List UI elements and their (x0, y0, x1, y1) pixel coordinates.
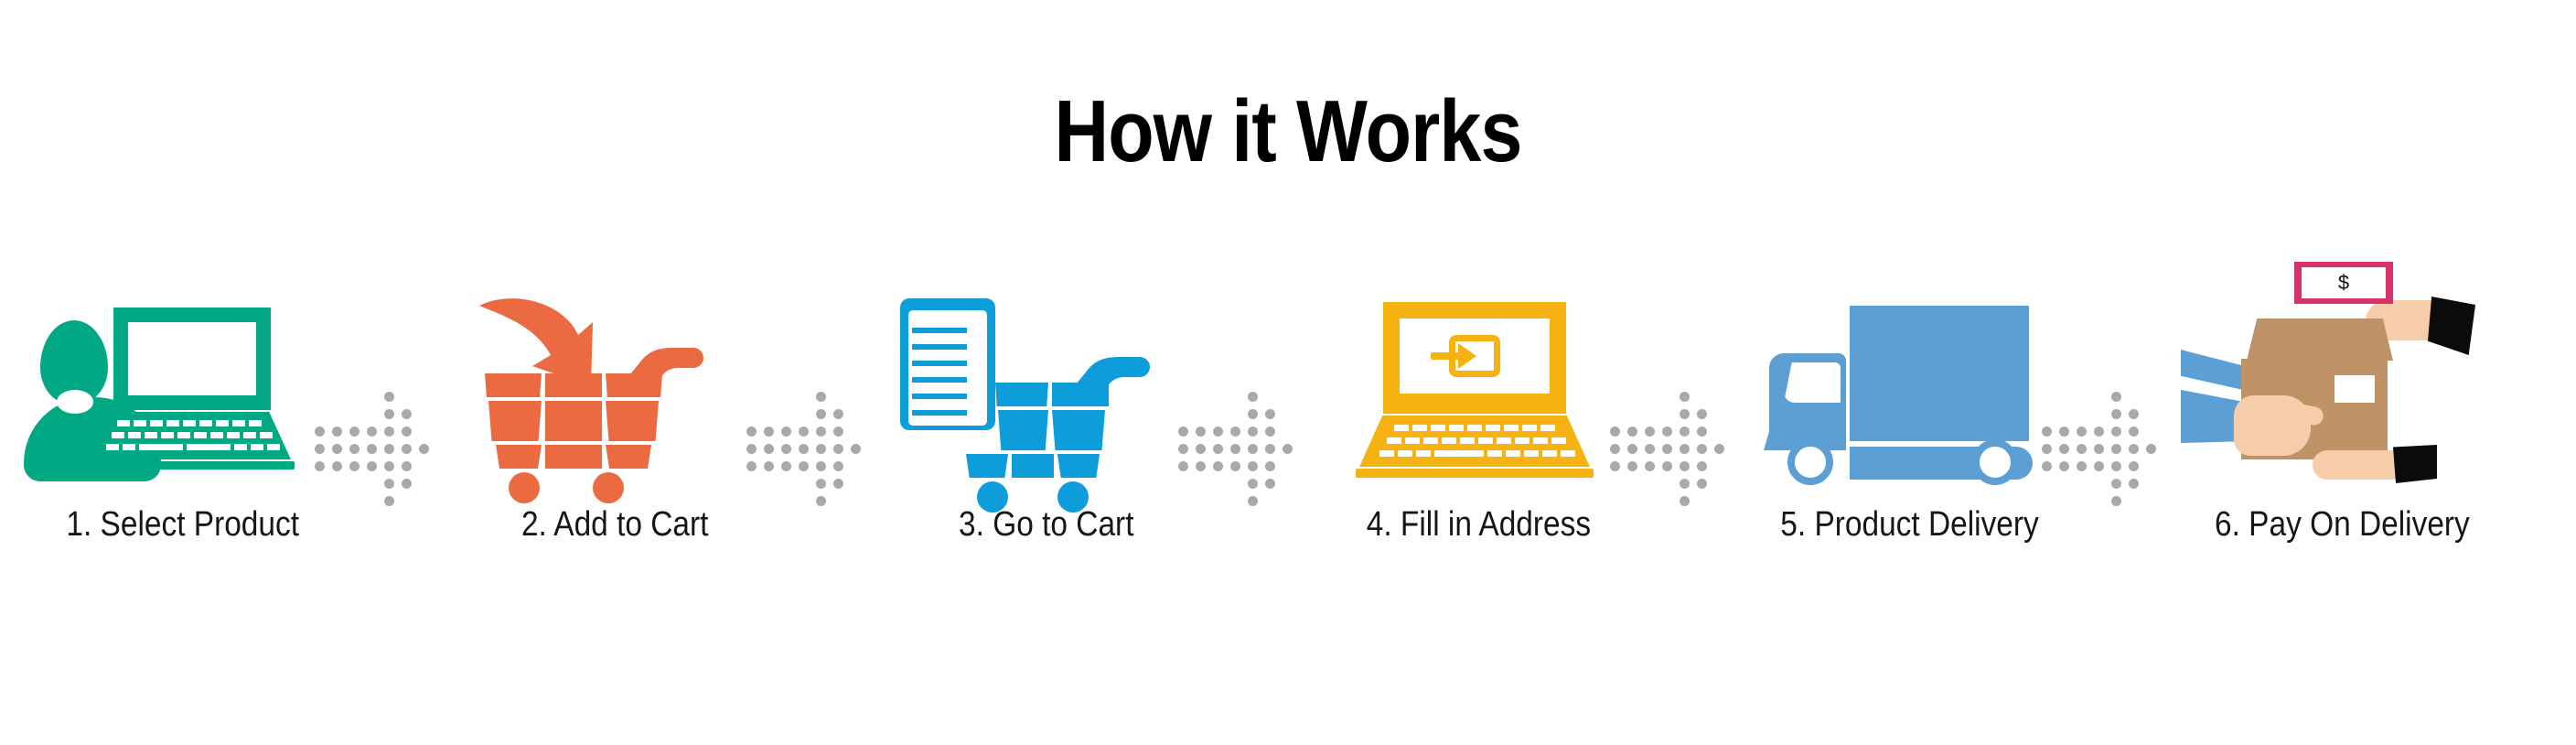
arrow-dot (816, 444, 826, 454)
arrow-dot (1645, 461, 1655, 471)
truck-wheel-front-shape (1787, 439, 1833, 485)
arrow-dot (799, 444, 809, 454)
arrow-dot (1680, 426, 1690, 437)
document-text-line (912, 410, 967, 416)
step-label: 1. Select Product (67, 505, 300, 545)
arrow-dot (1610, 426, 1620, 437)
arrow-dot (384, 409, 394, 419)
arrow-dot (2059, 461, 2069, 471)
arrow-dot (746, 444, 757, 454)
arrow-dot (402, 444, 412, 454)
arrow-dot (384, 496, 394, 506)
arrow-dot (2059, 426, 2069, 437)
arrow-dot (315, 444, 325, 454)
step-fill-in-address[interactable]: 4. Fill in Address (1295, 302, 1661, 545)
arrow-dot (1178, 426, 1188, 437)
arrow-dot (764, 426, 774, 437)
arrow-dot (2077, 426, 2087, 437)
arrow-dot (1680, 461, 1690, 471)
arrow-dot (1697, 426, 1707, 437)
arrow-dot (1213, 426, 1223, 437)
arrow-dot (1610, 461, 1620, 471)
arrow-dot (816, 426, 826, 437)
arrow-dot (367, 461, 377, 471)
document-text-line (912, 361, 967, 366)
arrow-dot (1248, 392, 1258, 402)
arrow-dot (816, 461, 826, 471)
step-label: 4. Fill in Address (1366, 505, 1590, 545)
arrow-dot (2129, 479, 2139, 489)
arrow-dot (367, 444, 377, 454)
arrow-dot (332, 444, 342, 454)
arrow-dot (1265, 409, 1275, 419)
arrow-dot (1697, 479, 1707, 489)
arrow-dot (367, 426, 377, 437)
arrow-dot (2111, 461, 2121, 471)
steps-row: 1. Select Product (0, 302, 2576, 668)
arrow-dot (764, 461, 774, 471)
step-product-delivery[interactable]: 5. Product Delivery (1727, 302, 2093, 545)
arrow-dot (2059, 444, 2069, 454)
truck-window-shape (1784, 362, 1841, 403)
delivery-truck-icon (1764, 302, 2056, 485)
arrow-dot (2129, 444, 2139, 454)
laptop-keys-group (93, 412, 291, 459)
arrow-dot (1230, 426, 1240, 437)
arrow-dot (1178, 461, 1188, 471)
arrow-dot (2111, 496, 2121, 506)
arrow-dot (781, 444, 791, 454)
parcel-box-lid-shape (2247, 319, 2393, 361)
arrow-dot (746, 426, 757, 437)
arrow-dot (816, 392, 826, 402)
arrow-dot (1680, 392, 1690, 402)
arrow-dot (349, 461, 360, 471)
dotted-arrow-right-icon (798, 342, 864, 525)
arrow-dot (1248, 426, 1258, 437)
laptop-base-bar-shape (90, 461, 295, 470)
step-select-product[interactable]: 1. Select Product (0, 302, 366, 545)
arrow-dot (384, 461, 394, 471)
arrow-dot (2077, 444, 2087, 454)
arrow-dot (1662, 444, 1672, 454)
arrow-dot (2111, 392, 2121, 402)
arrow-dot (2111, 479, 2121, 489)
upper-sleeve-shape (2428, 297, 2475, 355)
laptop-keyboard-base-shape (1359, 416, 1590, 467)
arrow-dot (2129, 426, 2139, 437)
arrow-dot (1265, 479, 1275, 489)
arrow-dot (833, 409, 843, 419)
lower-sleeve-shape (2391, 445, 2437, 483)
step-go-to-cart[interactable]: 3. Go to Cart (864, 302, 1229, 545)
arrow-dot (746, 461, 757, 471)
cart-wheel-right-shape (593, 472, 624, 503)
arrow-dot (833, 461, 843, 471)
arrow-dot (1213, 461, 1223, 471)
arrow-dot (2042, 444, 2052, 454)
arrow-dot (1714, 444, 1724, 454)
arrow-dot (402, 426, 412, 437)
arrow-dot (332, 426, 342, 437)
arrow-dot (1680, 409, 1690, 419)
laptop-screen-shape (128, 322, 256, 395)
arrow-dot (2042, 461, 2052, 471)
step6-scene: $ (2195, 262, 2488, 500)
dotted-arrow-right-icon (2093, 342, 2159, 525)
arrow-dot (2094, 444, 2104, 454)
laptop-base-bar-shape (1356, 469, 1594, 478)
document-with-shopping-cart-icon (900, 302, 1193, 485)
dotted-arrow-right-icon (1229, 342, 1295, 525)
arrow-dot (2094, 461, 2104, 471)
arrow-dot (1697, 444, 1707, 454)
arrow-dot (402, 409, 412, 419)
arrow-dot (315, 426, 325, 437)
arrow-dot (799, 426, 809, 437)
arrow-dot (1627, 444, 1637, 454)
arrow-dot (1680, 496, 1690, 506)
laptop-keys-group (1359, 416, 1590, 467)
truck-cargo-shape (1850, 306, 2029, 441)
arrow-dot (315, 461, 325, 471)
arrow-dot (1697, 461, 1707, 471)
cart-handle-shape (606, 344, 706, 397)
arrow-dot (1645, 426, 1655, 437)
arrow-dot (2077, 461, 2087, 471)
arrow-dot (816, 479, 826, 489)
arrow-dot (1213, 444, 1223, 454)
arrow-dot (384, 392, 394, 402)
dollar-symbol: $ (2302, 267, 2386, 298)
arrow-dot (1680, 444, 1690, 454)
person-neck-shape (57, 390, 93, 414)
arrow-dot (384, 479, 394, 489)
arrow-dot (2111, 426, 2121, 437)
step-label: 5. Product Delivery (1781, 505, 2039, 545)
arrow-dot (1697, 409, 1707, 419)
document-text-line (912, 377, 967, 383)
arrow-dot (833, 479, 843, 489)
dotted-arrow-right-icon (1661, 342, 1727, 525)
parcel-box-label-shape (2334, 375, 2375, 403)
arrow-dot (781, 461, 791, 471)
arrow-dot (2129, 409, 2139, 419)
document-text-line (912, 328, 967, 333)
arrow-dot (402, 461, 412, 471)
arrow-dot (2094, 426, 2104, 437)
arrow-dot (1265, 444, 1275, 454)
step-pay-on-delivery[interactable]: $ 6. Pay On Delivery (2159, 302, 2525, 545)
document-text-line (912, 344, 967, 350)
arrow-dot (1645, 444, 1655, 454)
arrow-dot (2111, 409, 2121, 419)
arrow-dot (1196, 444, 1206, 454)
arrow-dot (816, 496, 826, 506)
arrow-dot (781, 426, 791, 437)
arrow-dot (1196, 426, 1206, 437)
arrow-dot (799, 461, 809, 471)
arrow-dot (332, 461, 342, 471)
arrow-dot (764, 444, 774, 454)
arrow-dot (1230, 461, 1240, 471)
login-arrow-head-icon (1458, 343, 1476, 369)
page-title: How it Works (180, 88, 2396, 176)
arrow-dot (1248, 409, 1258, 419)
arrow-dot (1196, 461, 1206, 471)
hands-exchanging-box-and-money-icon: $ (2195, 302, 2488, 485)
arrow-dot (2146, 444, 2156, 454)
arrow-dot (384, 444, 394, 454)
truck-wheel-rear-shape (1972, 439, 2018, 485)
step-label: 2. Add to Cart (521, 505, 708, 545)
laptop-with-login-arrow-icon (1332, 302, 1625, 485)
dotted-arrow-right-icon (366, 342, 432, 525)
arrow-dot (1178, 444, 1188, 454)
arrow-dot (833, 426, 843, 437)
step-label: 6. Pay On Delivery (2215, 505, 2470, 545)
arrow-dot (1662, 426, 1672, 437)
step-add-to-cart[interactable]: 2. Add to Cart (432, 302, 798, 545)
arrow-dot (1248, 496, 1258, 506)
lower-receiving-hand-shape (2313, 450, 2400, 480)
cart-wheel-left-shape (509, 472, 540, 503)
laptop-keyboard-base-shape (93, 412, 291, 459)
infographic-canvas: How it Works (0, 0, 2576, 745)
arrow-dot (419, 444, 429, 454)
person-with-laptop-icon (37, 302, 329, 485)
arrow-dot (1610, 444, 1620, 454)
arrow-dot (384, 426, 394, 437)
arrow-dot (833, 444, 843, 454)
arrow-dot (1627, 461, 1637, 471)
arrow-dot (1248, 479, 1258, 489)
arrow-dot (402, 479, 412, 489)
arrow-dot (1248, 444, 1258, 454)
arrow-dot (1627, 426, 1637, 437)
arrow-into-shopping-cart-icon (468, 302, 761, 485)
step-label: 3. Go to Cart (959, 505, 1133, 545)
arrow-dot (816, 409, 826, 419)
arrow-dot (1283, 444, 1293, 454)
document-text-line (912, 394, 967, 399)
arrow-dot (349, 444, 360, 454)
arrow-dot (851, 444, 861, 454)
arrow-dot (1662, 461, 1672, 471)
arrow-dot (1265, 426, 1275, 437)
arrow-dot (1265, 461, 1275, 471)
arrow-dot (2042, 426, 2052, 437)
cart-handle-shape (1052, 353, 1153, 406)
arrow-dot (1680, 479, 1690, 489)
arrow-dot (2129, 461, 2139, 471)
arrow-dot (1230, 444, 1240, 454)
arrow-dot (2111, 444, 2121, 454)
arrow-dot (349, 426, 360, 437)
arrow-dot (1248, 461, 1258, 471)
